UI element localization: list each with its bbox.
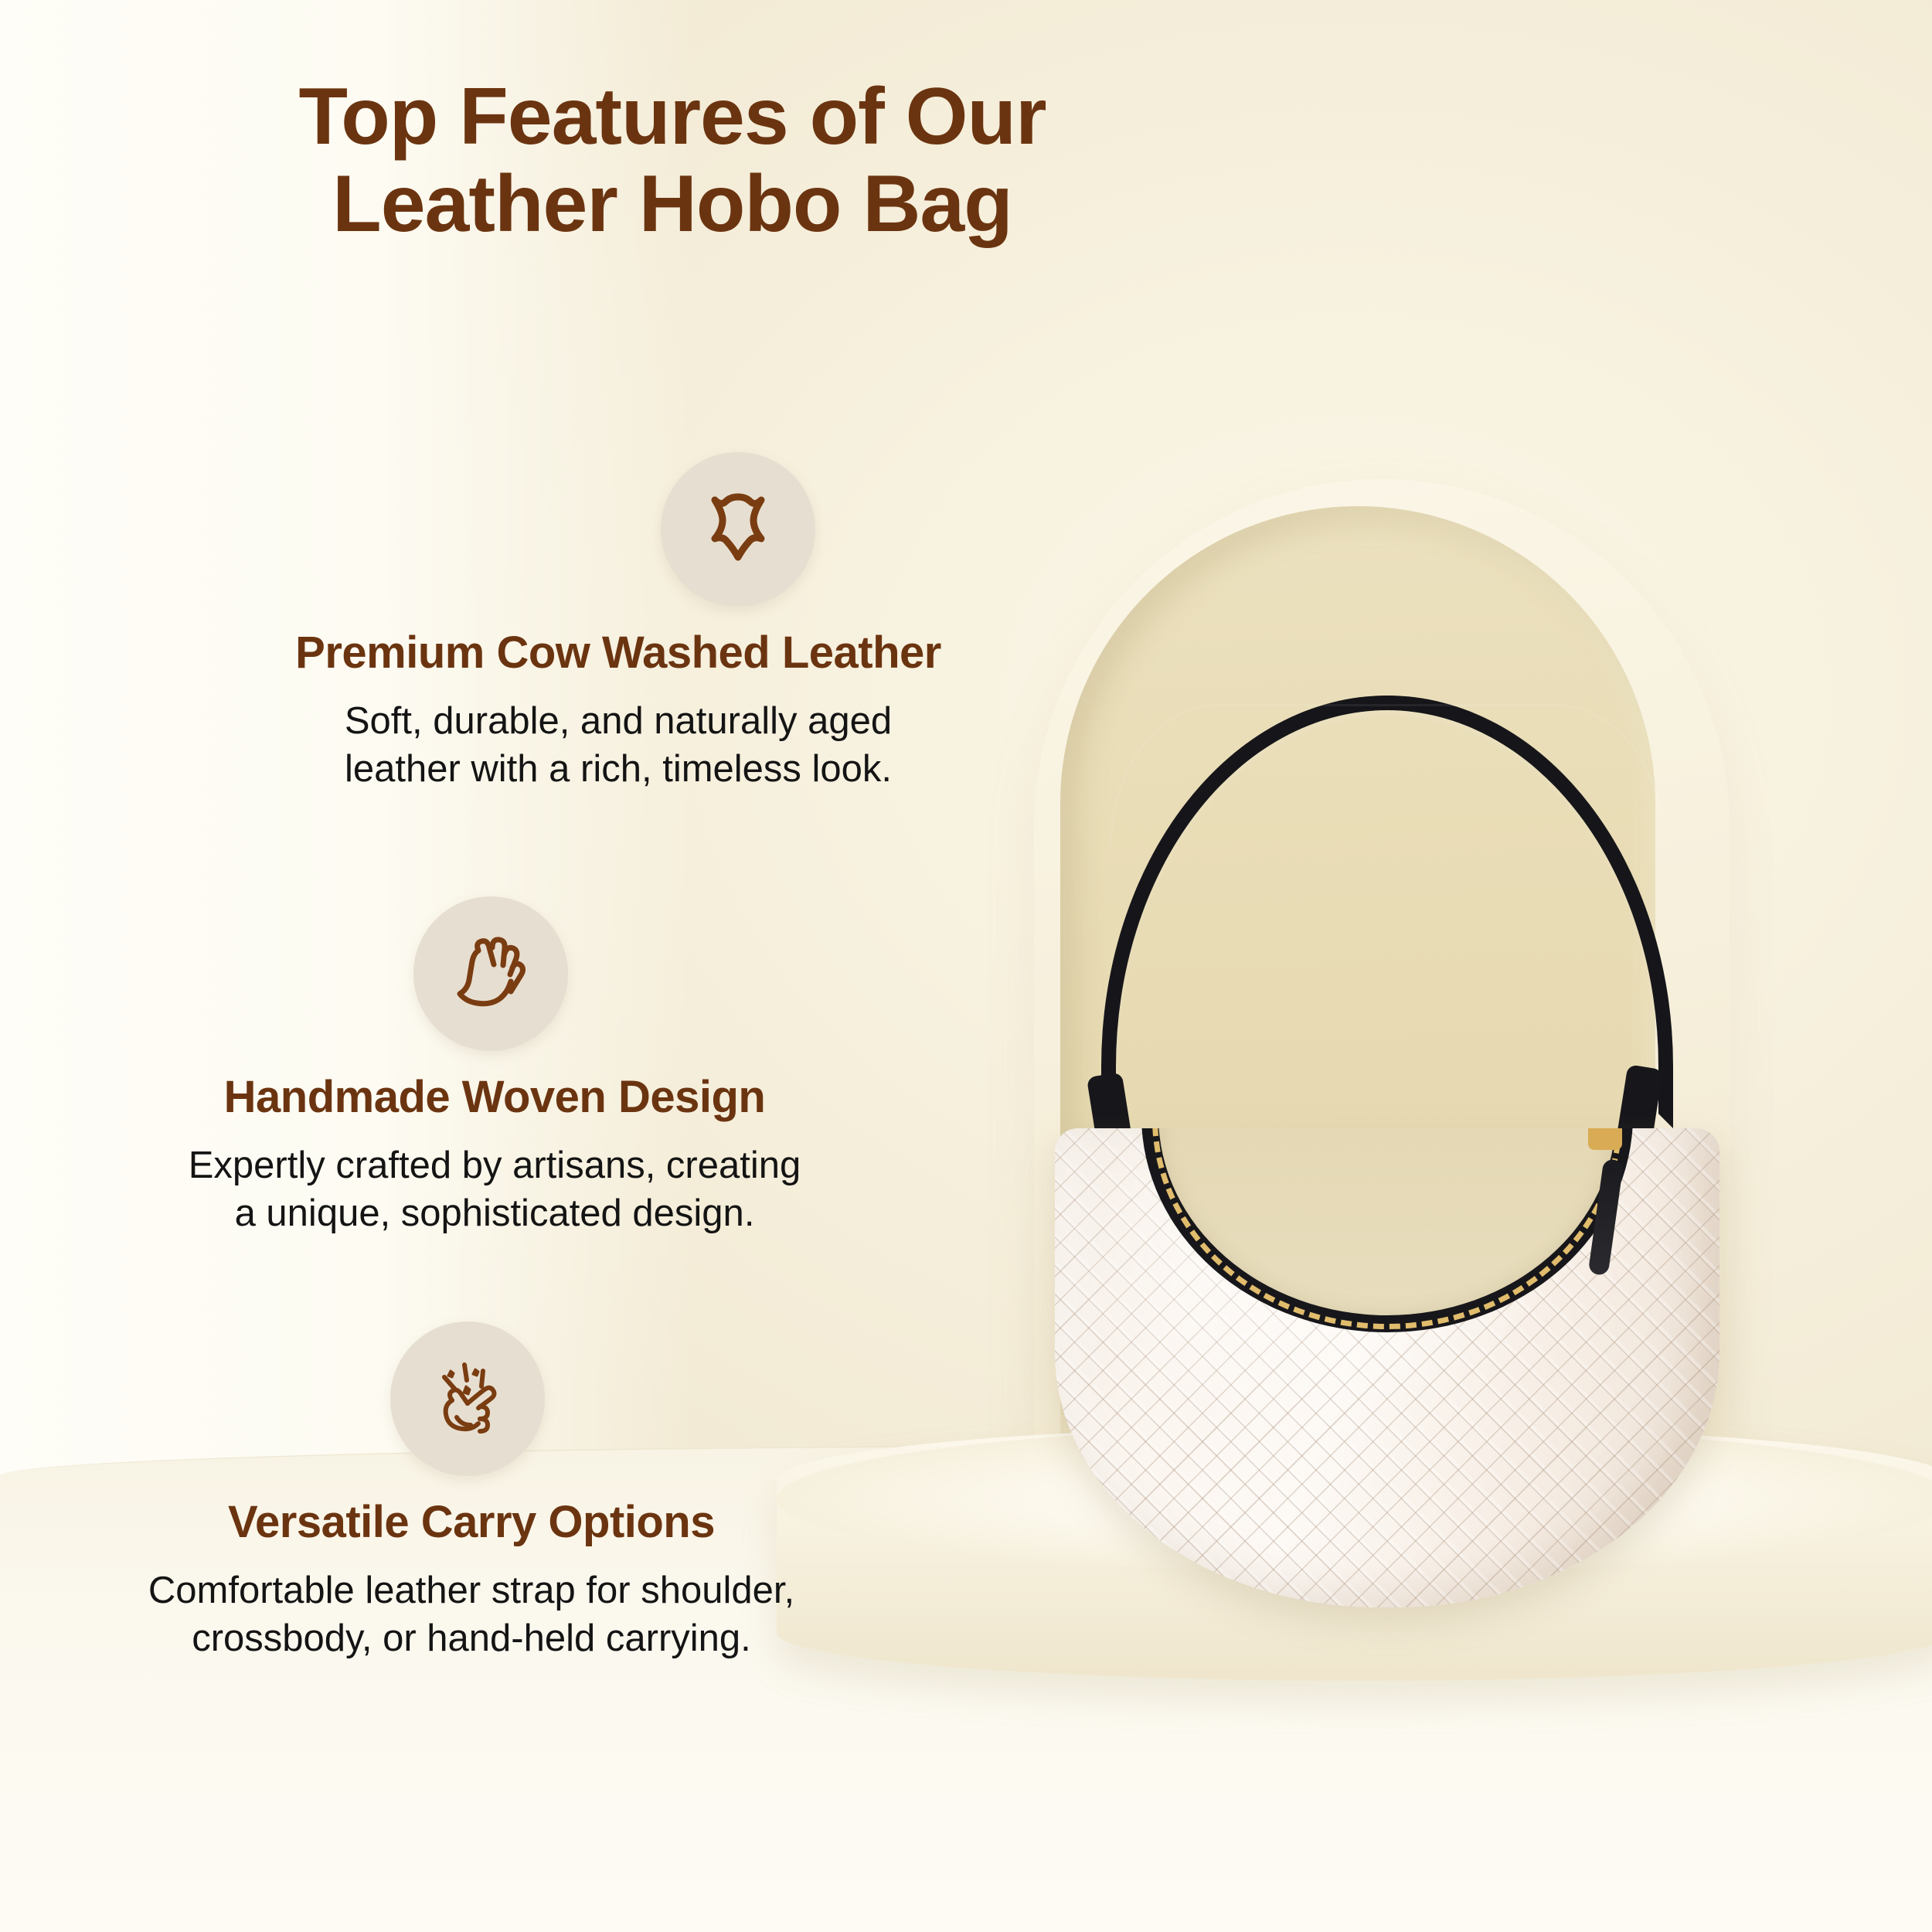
feature-description: Expertly crafted by artisans, creating a… <box>31 1142 958 1237</box>
infographic-content: Top Features of Our Leather Hobo Bag Pre… <box>0 0 1932 1932</box>
feature-block-versatile-carry: Versatile Carry Options Comfortable leat… <box>8 1321 935 1662</box>
page-title: Top Features of Our Leather Hobo Bag <box>0 73 1345 249</box>
feature-title: Versatile Carry Options <box>8 1498 935 1547</box>
feature-description: Comfortable leather strap for shoulder, … <box>8 1567 935 1662</box>
feature-block-handmade-woven: Handmade Woven Design Expertly crafted b… <box>31 896 958 1237</box>
feature-title: Premium Cow Washed Leather <box>155 628 1082 678</box>
feature-title: Handmade Woven Design <box>31 1073 958 1122</box>
feature-block-premium-leather: Premium Cow Washed Leather Soft, durable… <box>155 452 1082 793</box>
hand-palm-icon <box>413 896 568 1051</box>
feature-description: Soft, durable, and naturally aged leathe… <box>155 698 1082 793</box>
finger-snap-sparkle-icon <box>390 1321 545 1476</box>
leather-hide-icon <box>661 452 815 607</box>
